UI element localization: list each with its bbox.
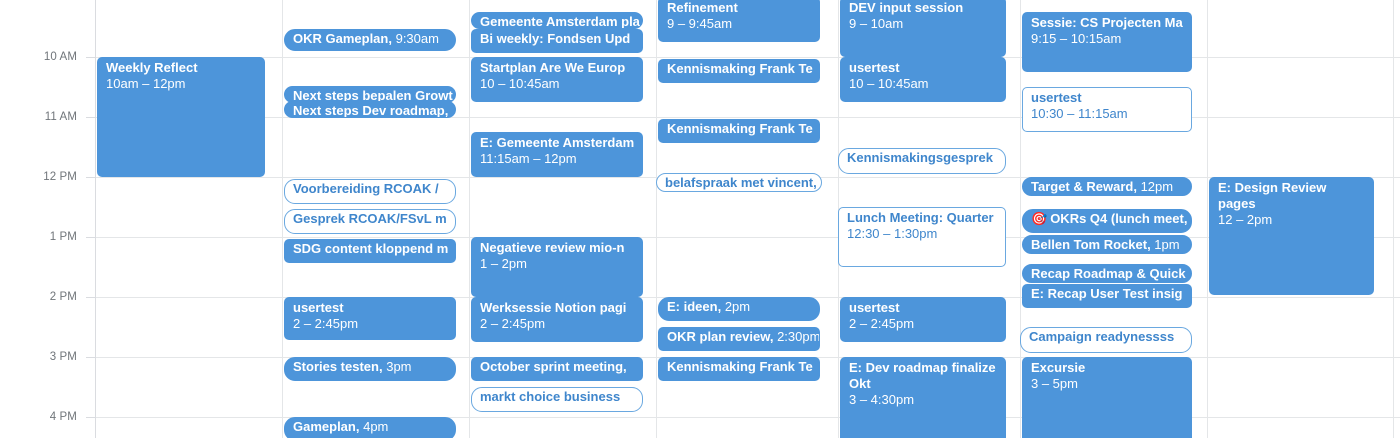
event-title: Lunch Meeting: Quarter xyxy=(847,210,994,225)
event-title: Recap Roadmap & Quick xyxy=(1031,266,1186,281)
event-stories-testen[interactable]: Stories testen3pm xyxy=(284,357,456,381)
time-tick xyxy=(86,57,95,58)
event-time: 2:30pm xyxy=(777,329,820,344)
event-time: 12 – 2pm xyxy=(1218,212,1366,228)
event-title: Next steps Dev roadmap, xyxy=(293,103,448,118)
event-markt-choice-business[interactable]: markt choice business xyxy=(471,387,643,412)
event-title: Gemeente Amsterdam pla xyxy=(480,14,640,29)
day-column-divider xyxy=(469,0,470,438)
event-time: 3 – 5pm xyxy=(1031,376,1184,392)
event-title: Gesprek RCOAK/FSvL m xyxy=(293,211,447,226)
event-usertest-col1[interactable]: usertest2 – 2:45pm xyxy=(284,297,456,340)
event-kennismaking-frank-te-2[interactable]: Kennismaking Frank Te xyxy=(658,119,820,143)
event-gesprek-rcoak-fsvl[interactable]: Gesprek RCOAK/FSvL m xyxy=(284,209,456,234)
event-excursie[interactable]: Excursie3 – 5pm xyxy=(1022,357,1192,438)
event-time: 4pm xyxy=(363,419,388,434)
event-startplan-are-we-europe[interactable]: Startplan Are We Europ10 – 10:45am xyxy=(471,57,643,102)
day-column-divider xyxy=(1020,0,1021,438)
event-belafspraak-met-vincent[interactable]: belafspraak met vincent, xyxy=(656,173,822,192)
event-kennismakingsgesprek[interactable]: Kennismakingsgesprek xyxy=(838,148,1006,174)
time-label-11-am: 11 AM xyxy=(45,111,77,123)
event-time: 3 – 4:30pm xyxy=(849,392,998,408)
event-sessie-cs-projecten[interactable]: Sessie: CS Projecten Ma9:15 – 10:15am xyxy=(1022,12,1192,72)
event-gemeente-amsterdam-plan[interactable]: Gemeente Amsterdam pla xyxy=(471,12,643,29)
event-title: usertest xyxy=(849,60,900,75)
event-dev-input-session[interactable]: DEV input session9 – 10am xyxy=(840,0,1006,57)
event-usertest-col5[interactable]: usertest10:30 – 11:15am xyxy=(1022,87,1192,132)
event-title: Campaign readynessss xyxy=(1029,329,1174,344)
event-time: 10am – 12pm xyxy=(106,76,257,92)
hour-gridline xyxy=(95,237,1400,238)
event-time: 11:15am – 12pm xyxy=(480,151,635,167)
event-title: E: ideen xyxy=(667,299,725,314)
event-time: 1 – 2pm xyxy=(480,256,635,272)
event-e-recap-user-test-insights[interactable]: E: Recap User Test insig xyxy=(1022,284,1192,308)
event-title: Startplan Are We Europ xyxy=(480,60,625,75)
time-gutter: 9 AM10 AM11 AM12 PM1 PM2 PM3 PM4 PM xyxy=(0,0,95,438)
event-time: 9:15 – 10:15am xyxy=(1031,31,1184,47)
event-title: Sessie: CS Projecten Ma xyxy=(1031,15,1183,30)
event-gameplan[interactable]: Gameplan4pm xyxy=(284,417,456,438)
day-column-divider xyxy=(656,0,657,438)
event-time: 2pm xyxy=(725,299,750,314)
event-title: Bellen Tom Rocket xyxy=(1031,237,1154,252)
target-icon: 🎯 xyxy=(1031,211,1047,227)
event-title: OKRs Q4 (lunch meet xyxy=(1050,211,1187,226)
event-kennismaking-frank-te-3[interactable]: Kennismaking Frank Te xyxy=(658,357,820,381)
event-title: OKR plan review xyxy=(667,329,777,344)
time-label-3-pm: 3 PM xyxy=(50,351,77,363)
event-target-and-reward[interactable]: Target & Reward12pm xyxy=(1022,177,1192,196)
event-october-sprint-meeting[interactable]: October sprint meeting, xyxy=(471,357,643,381)
event-lunch-meeting-quarter[interactable]: Lunch Meeting: Quarter12:30 – 1:30pm xyxy=(838,207,1006,267)
event-title: SDG content kloppend m xyxy=(293,241,448,256)
event-next-steps-dev-roadmap[interactable]: Next steps Dev roadmap, xyxy=(284,101,456,118)
event-title: DEV input session xyxy=(849,0,963,15)
event-time: 9 – 9:45am xyxy=(667,16,812,32)
event-time: 2 – 2:45pm xyxy=(293,316,448,332)
event-title: E: Dev roadmap finalize Okt xyxy=(849,360,996,391)
event-werksessie-notion-pagina[interactable]: Werksessie Notion pagi2 – 2:45pm xyxy=(471,297,643,342)
time-tick xyxy=(86,117,95,118)
event-title: Refinement xyxy=(667,0,738,15)
event-title: Werksessie Notion pagi xyxy=(480,300,626,315)
event-time: 3pm xyxy=(386,359,411,374)
event-title: usertest xyxy=(1031,90,1082,105)
event-title: Voorbereiding RCOAK / xyxy=(293,181,439,196)
event-usertest-col4-morning[interactable]: usertest10 – 10:45am xyxy=(840,57,1006,102)
day-column-divider xyxy=(1393,0,1394,438)
time-label-1-pm: 1 PM xyxy=(50,231,77,243)
event-time: 10 – 10:45am xyxy=(849,76,998,92)
event-title: Kennismaking Frank Te xyxy=(667,61,813,76)
event-title: markt choice business xyxy=(480,389,620,404)
event-title: belafspraak met vincent, xyxy=(665,175,817,190)
event-title: Kennismakingsgesprek xyxy=(847,150,993,165)
event-title: Stories testen xyxy=(293,359,386,374)
event-title: Target & Reward xyxy=(1031,179,1141,194)
gutter-divider xyxy=(95,0,96,438)
time-tick xyxy=(86,297,95,298)
time-label-12-pm: 12 PM xyxy=(43,171,77,183)
time-label-4-pm: 4 PM xyxy=(50,411,77,423)
event-title: Kennismaking Frank Te xyxy=(667,359,813,374)
event-time: 2 – 2:45pm xyxy=(480,316,635,332)
event-okr-gameplan[interactable]: OKR Gameplan9:30am xyxy=(284,29,456,51)
event-time: 12pm xyxy=(1141,179,1174,194)
event-title: Kennismaking Frank Te xyxy=(667,121,813,136)
time-tick xyxy=(86,177,95,178)
event-title: Excursie xyxy=(1031,360,1085,375)
event-recap-roadmap-and-quick[interactable]: Recap Roadmap & Quick xyxy=(1022,264,1192,283)
event-e-ideen[interactable]: E: ideen2pm xyxy=(658,297,820,321)
time-label-2-pm: 2 PM xyxy=(50,291,77,303)
event-title: Bi weekly: Fondsen Upd xyxy=(480,31,630,46)
event-voorbereiding-rcoak[interactable]: Voorbereiding RCOAK / xyxy=(284,179,456,204)
event-time: 1pm xyxy=(1154,237,1179,252)
time-label-9-am: 9 AM xyxy=(50,0,77,3)
event-e-design-review-pages[interactable]: E: Design Review pages12 – 2pm xyxy=(1209,177,1374,295)
event-time: 10:30 – 11:15am xyxy=(1031,106,1184,122)
time-tick xyxy=(86,357,95,358)
event-okrs-q4-lunch-meeting[interactable]: 🎯OKRs Q4 (lunch meet xyxy=(1022,209,1192,233)
event-okr-plan-review[interactable]: OKR plan review2:30pm xyxy=(658,327,820,351)
day-column-divider xyxy=(282,0,283,438)
event-title: E: Design Review pages xyxy=(1218,180,1326,211)
event-kennismaking-frank-te-1[interactable]: Kennismaking Frank Te xyxy=(658,59,820,83)
event-title: October sprint meeting, xyxy=(480,359,627,374)
event-time: 2 – 2:45pm xyxy=(849,316,998,332)
event-title: E: Gemeente Amsterdam xyxy=(480,135,634,150)
event-refinement[interactable]: Refinement9 – 9:45am xyxy=(658,0,820,42)
event-title: Weekly Reflect xyxy=(106,60,198,75)
event-title: OKR Gameplan xyxy=(293,31,396,46)
event-title: usertest xyxy=(849,300,900,315)
event-title: usertest xyxy=(293,300,344,315)
event-negatieve-review-mio[interactable]: Negatieve review mio-n1 – 2pm xyxy=(471,237,643,297)
time-label-10-am: 10 AM xyxy=(44,51,77,63)
event-time: 12:30 – 1:30pm xyxy=(847,226,998,242)
event-title: Negatieve review mio-n xyxy=(480,240,625,255)
event-bi-weekly-fondsen-update[interactable]: Bi weekly: Fondsen Upd xyxy=(471,29,643,53)
event-e-gemeente-amsterdam[interactable]: E: Gemeente Amsterdam11:15am – 12pm xyxy=(471,132,643,177)
time-tick xyxy=(86,237,95,238)
event-sdg-content-kloppend[interactable]: SDG content kloppend m xyxy=(284,239,456,263)
event-time: 9 – 10am xyxy=(849,16,998,32)
event-e-dev-roadmap-finalize-okt[interactable]: E: Dev roadmap finalize Okt3 – 4:30pm xyxy=(840,357,1006,438)
event-campaign-readynessss[interactable]: Campaign readynessss xyxy=(1020,327,1192,353)
event-weekly-reflect[interactable]: Weekly Reflect10am – 12pm xyxy=(97,57,265,177)
time-tick xyxy=(86,417,95,418)
hour-gridline xyxy=(95,57,1400,58)
event-title: E: Recap User Test insig xyxy=(1031,286,1182,301)
calendar-week-view[interactable]: 9 AM10 AM11 AM12 PM1 PM2 PM3 PM4 PM Week… xyxy=(0,0,1400,438)
day-column-divider xyxy=(1207,0,1208,438)
event-usertest-col4-afternoon[interactable]: usertest2 – 2:45pm xyxy=(840,297,1006,342)
event-bellen-tom-rocket[interactable]: Bellen Tom Rocket1pm xyxy=(1022,235,1192,254)
event-time: 10 – 10:45am xyxy=(480,76,635,92)
event-title: Gameplan xyxy=(293,419,363,434)
event-time: 9:30am xyxy=(396,31,439,46)
